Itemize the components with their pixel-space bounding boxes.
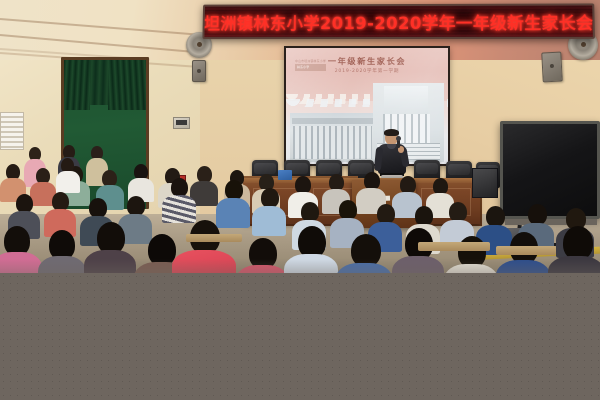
led-banner-text: 坦洲镇林东小学2019-2020学年一年级新生家长会: [204, 9, 594, 34]
projection-screen-frame: 中山市坦洲镇林东小学 林东小学 一年级新生家长会 2019-2020学年第一学期: [284, 46, 450, 166]
wall-control-panel[interactable]: [173, 117, 190, 129]
door-curtain-left: [64, 60, 90, 110]
attendee: [128, 164, 154, 200]
bench-desk: [496, 246, 556, 255]
air-vent: [0, 112, 24, 150]
attendee-striped-shirt: [162, 178, 196, 222]
attendee: [252, 188, 286, 234]
bench-desk: [418, 242, 490, 251]
attendee-front: [0, 226, 42, 273]
projection-screen: 中山市坦洲镇林东小学 林东小学 一年级新生家长会 2019-2020学年第一学期: [286, 48, 448, 164]
photograph: 坦洲镇林东小学2019-2020学年一年级新生家长会 中山市坦洲镇林东小学 林东…: [0, 0, 600, 273]
bottom-letterbox: [0, 273, 600, 400]
attendee-front: [284, 226, 338, 273]
door-curtain-right: [108, 60, 146, 110]
bench-desk: [186, 234, 242, 242]
attendee-front: [84, 222, 136, 273]
led-banner: 坦洲镇林东小学2019-2020学年一年级新生家长会: [202, 3, 595, 39]
wall-speaker-left: [192, 60, 206, 82]
attendee-front: [336, 234, 392, 273]
screenshot-root: 坦洲镇林东小学2019-2020学年一年级新生家长会 中山市坦洲镇林东小学 林东…: [0, 0, 600, 400]
slide-subtitle: 2019-2020学年第一学期: [286, 68, 448, 74]
attendee: [56, 158, 80, 192]
attendee-front-red-shirt: [172, 220, 236, 273]
attendee-front: [236, 238, 288, 273]
audience: [0, 150, 600, 273]
wall-speaker-right: [541, 51, 563, 82]
slide-title: 一年级新生家长会: [286, 55, 448, 67]
attendee-front: [38, 230, 86, 273]
